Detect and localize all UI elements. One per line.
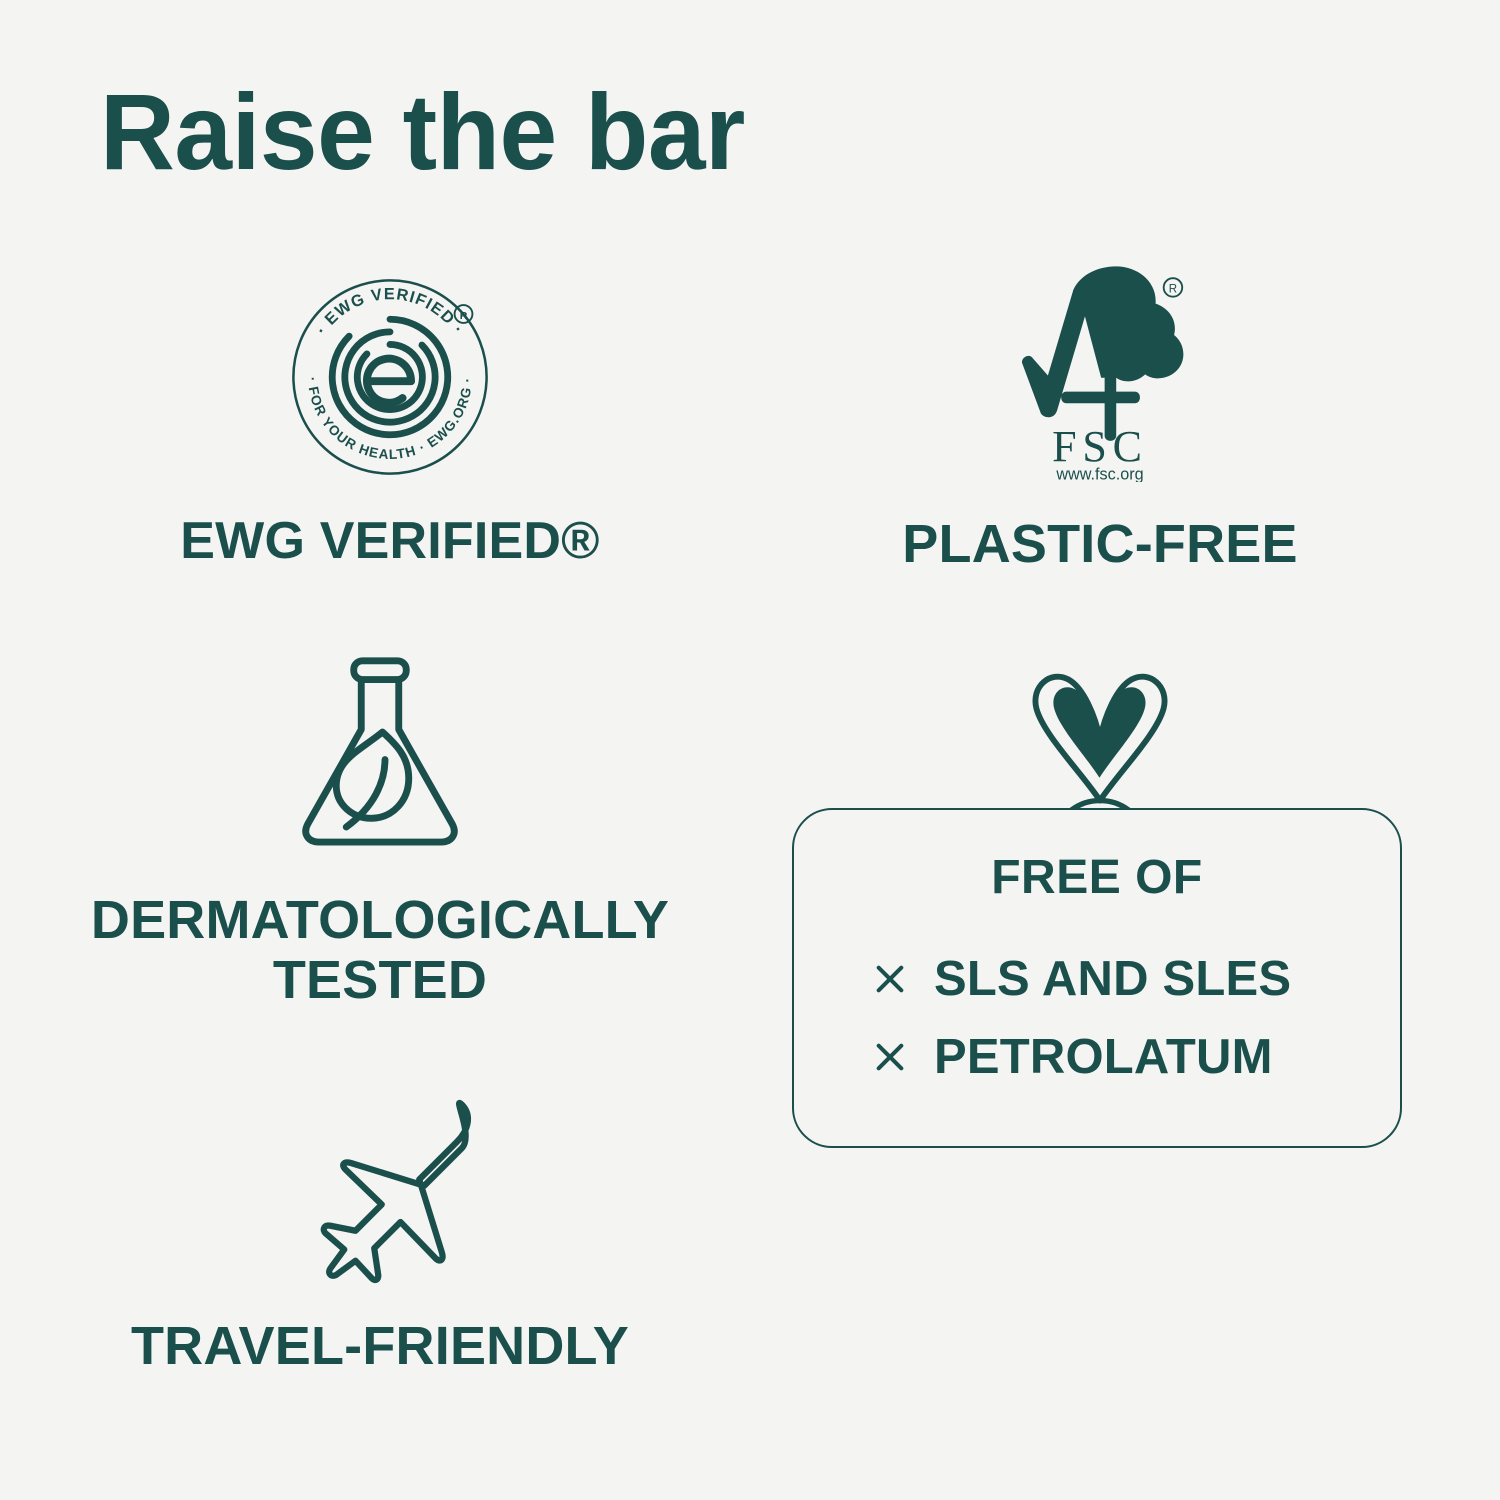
free-of-item-label: SLS AND SLES xyxy=(934,951,1291,1007)
product-claims-infographic: Raise the bar · EWG VERIFIED · xyxy=(0,0,1500,1500)
svg-text:www.fsc.org: www.fsc.org xyxy=(1055,466,1143,482)
flask-with-leaf-icon xyxy=(285,652,475,852)
free-of-list: SLS AND SLES PETROLATUM xyxy=(794,951,1400,1085)
list-item: PETROLATUM xyxy=(872,1029,1400,1085)
fsc-tree-checkmark-icon: R FSC www.fsc.org xyxy=(1000,262,1200,482)
svg-text:R: R xyxy=(460,310,468,322)
badge-travel-friendly: TRAVEL-FRIENDLY xyxy=(60,1092,700,1376)
free-of-card: FREE OF SLS AND SLES PETROLATUM xyxy=(792,808,1402,1148)
badge-plastic-free: R FSC www.fsc.org PLASTIC-FREE xyxy=(790,262,1410,574)
badge-label: DERMATOLOGICALLY TESTED xyxy=(91,890,669,1011)
free-of-item-label: PETROLATUM xyxy=(934,1029,1273,1085)
badge-label: TRAVEL-FRIENDLY xyxy=(131,1316,629,1376)
badge-label: EWG VERIFIED® xyxy=(180,512,599,570)
x-icon xyxy=(872,1039,908,1075)
page-title: Raise the bar xyxy=(100,78,745,186)
x-icon xyxy=(872,961,908,997)
svg-text:FSC: FSC xyxy=(1052,422,1148,471)
free-of-title: FREE OF xyxy=(794,850,1400,905)
ewg-verified-seal-icon: · EWG VERIFIED · · FOR YOUR HEALTH · EWG… xyxy=(285,272,495,482)
svg-text:R: R xyxy=(1169,284,1177,296)
badge-dermatologically-tested: DERMATOLOGICALLY TESTED xyxy=(60,652,700,1011)
badge-label: PLASTIC-FREE xyxy=(902,514,1297,574)
badge-ewg-verified: · EWG VERIFIED · · FOR YOUR HEALTH · EWG… xyxy=(80,272,700,570)
airplane-icon xyxy=(273,1092,488,1292)
list-item: SLS AND SLES xyxy=(872,951,1400,1007)
